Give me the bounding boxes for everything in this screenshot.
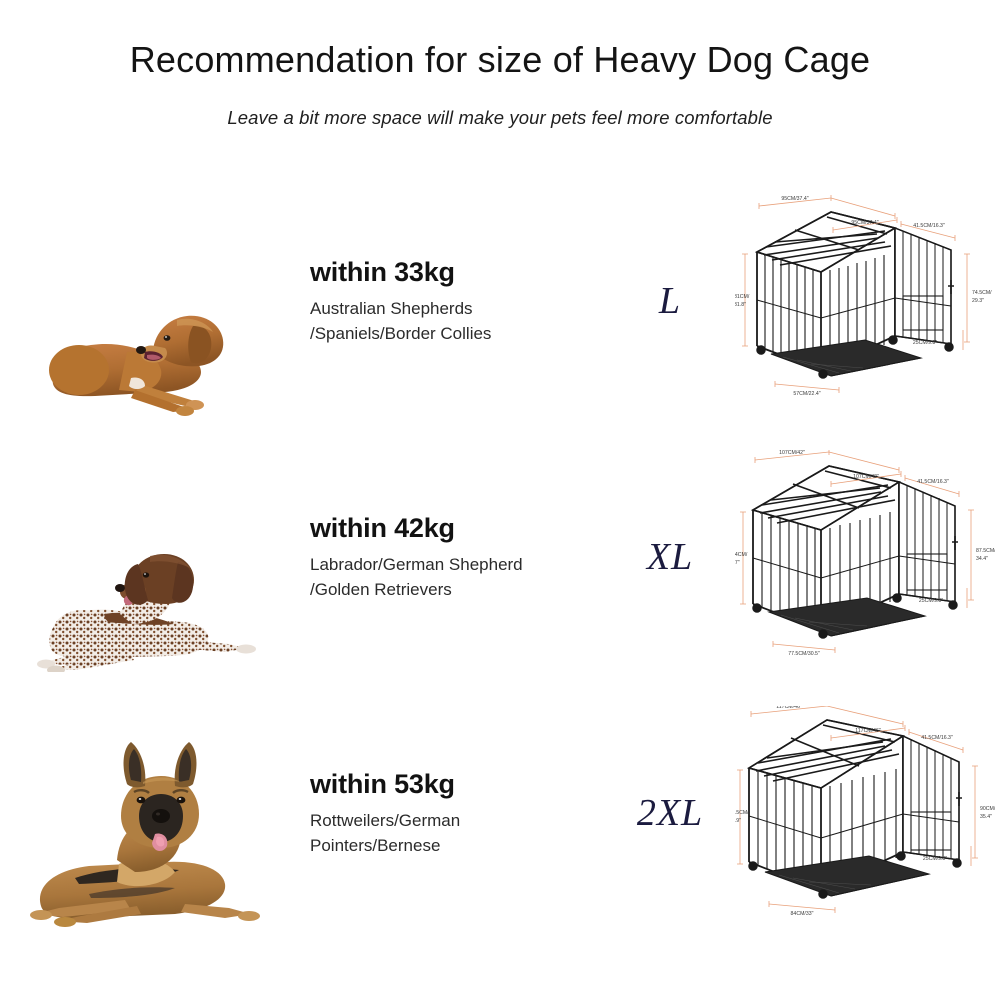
- weight-label: within 53kg: [310, 768, 610, 800]
- dim-left-height-line1: 94CM/: [735, 552, 748, 558]
- cage-diagram-l: 95CM/37.4" 95CM/37.4" 41.5CM/16.3" 25CM/…: [730, 186, 1000, 416]
- breed-line-2: Pointers/Bernese: [310, 834, 610, 859]
- dim-right-height-line2: 35.4": [980, 814, 992, 820]
- dim-door-width: 41.5CM/16.3": [921, 735, 953, 741]
- breed-line-1: Australian Shepherds: [310, 297, 610, 322]
- dim-tray-height: 25CM/9.8": [913, 340, 937, 346]
- row-text-l: within 33kg Australian Shepherds /Spanie…: [300, 256, 610, 347]
- dim-base-width: 84CM/33": [791, 911, 814, 917]
- dim-left-height-line2: 37": [735, 560, 740, 566]
- dim-left-height-line1: 81CM/: [735, 294, 750, 300]
- page-subtitle: Leave a bit more space will make your pe…: [0, 107, 1000, 129]
- dim-tray-height: 25CM/9.8": [919, 598, 943, 604]
- dim-lid-top: 95CM/37.4": [781, 196, 808, 202]
- size-row-l: within 33kg Australian Shepherds /Spanie…: [0, 173, 1000, 429]
- dim-door-width: 41.5CM/16.3": [917, 479, 949, 485]
- dim-right-height-line1: 90CM/: [980, 806, 995, 812]
- dim-right-height-line2: 29.3": [972, 298, 984, 304]
- row-text-2xl: within 53kg Rottweilers/German Pointers/…: [300, 768, 610, 859]
- cage-diagram-2xl: 117CM/46" 117CM/46" 41.5CM/16.3" 25CM/9.…: [730, 698, 1000, 928]
- breed-line-2: /Golden Retrievers: [310, 578, 610, 603]
- size-recommendation-list: within 33kg Australian Shepherds /Spanie…: [0, 173, 1000, 941]
- size-code-2xl: 2XL: [610, 791, 730, 835]
- german-shepherd-photo: [0, 698, 300, 928]
- pointer-dog-lying-photo: [0, 442, 300, 672]
- dim-door-width: 41.5CM/16.3": [913, 223, 945, 229]
- breed-line-2: /Spaniels/Border Collies: [310, 322, 610, 347]
- size-code-l: L: [610, 279, 730, 323]
- header: Recommendation for size of Heavy Dog Cag…: [0, 0, 1000, 129]
- dim-left-height-line1: 96.5CM/: [735, 810, 749, 816]
- weight-label: within 42kg: [310, 512, 610, 544]
- dim-right-height-line1: 74.5CM/: [972, 290, 992, 296]
- dim-body-top: 107CM/42": [853, 474, 879, 480]
- breed-line-1: Rottweilers/German: [310, 809, 610, 834]
- row-text-xl: within 42kg Labrador/German Shepherd /Go…: [300, 512, 610, 603]
- breed-line-1: Labrador/German Shepherd: [310, 553, 610, 578]
- dim-base-width: 57CM/22.4": [793, 391, 820, 397]
- dim-left-height-line2: 31.8": [735, 302, 746, 308]
- size-row-2xl: within 53kg Rottweilers/German Pointers/…: [0, 685, 1000, 941]
- dim-right-height-line2: 34.4": [976, 556, 988, 562]
- page-title: Recommendation for size of Heavy Dog Cag…: [0, 38, 1000, 81]
- dim-left-height-line2: 37.9": [735, 818, 741, 824]
- cage-diagram-xl: 107CM/42" 107CM/42" 41.5CM/16.3" 25CM/9.…: [730, 442, 1000, 672]
- dim-body-top: 117CM/46": [855, 728, 881, 734]
- weight-label: within 33kg: [310, 256, 610, 288]
- size-row-xl: within 42kg Labrador/German Shepherd /Go…: [0, 429, 1000, 685]
- dim-base-width: 77.5CM/30.5": [788, 651, 820, 657]
- dim-tray-height: 25CM/9.8": [923, 856, 947, 862]
- size-code-xl: XL: [610, 535, 730, 579]
- dim-body-top: 95CM/37.4": [851, 220, 878, 226]
- dim-lid-top: 117CM/46": [776, 706, 802, 710]
- brown-dog-lying-photo: [0, 186, 300, 416]
- dim-right-height-line1: 87.5CM/: [976, 548, 995, 554]
- dim-lid-top: 107CM/42": [779, 450, 805, 456]
